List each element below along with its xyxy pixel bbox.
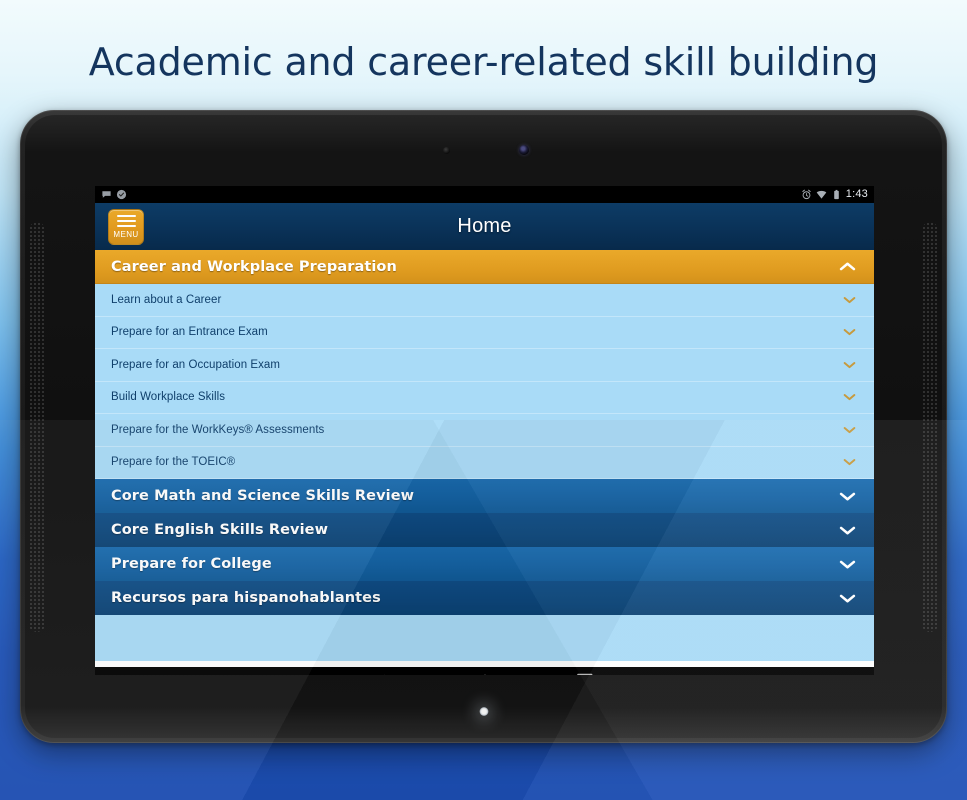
status-bar-notifications (101, 189, 127, 200)
accordion-section-header[interactable]: Core Math and Science Skills Review (95, 479, 874, 513)
status-bar-clock: 1:43 (846, 189, 868, 200)
home-icon (474, 673, 496, 675)
chevron-down-icon (839, 525, 856, 536)
front-camera-icon (519, 145, 529, 155)
accordion-sub-item-label: Learn about a Career (111, 294, 221, 306)
accordion-sub-item-label: Build Workplace Skills (111, 391, 225, 403)
alarm-clock-icon (801, 189, 812, 200)
status-bar-system: 1:43 (801, 189, 868, 200)
chevron-down-icon (839, 559, 856, 570)
chevron-down-icon (843, 296, 856, 304)
chevron-down-icon (843, 393, 856, 401)
message-bubble-icon (101, 189, 112, 200)
accordion-sub-item[interactable]: Prepare for an Entrance Exam (95, 317, 874, 350)
chevron-up-icon (839, 261, 856, 272)
nav-home-button[interactable] (472, 671, 498, 675)
check-circle-icon (116, 189, 127, 200)
nav-back-button[interactable] (374, 671, 400, 675)
menu-button-label: MENU (113, 231, 138, 239)
accordion-section-header[interactable]: Prepare for College (95, 547, 874, 581)
wifi-icon (816, 189, 827, 200)
accordion-section-title: Career and Workplace Preparation (111, 259, 397, 275)
accordion-section-title: Core English Skills Review (111, 522, 328, 538)
chevron-down-icon (843, 361, 856, 369)
accordion-sub-item-label: Prepare for the WorkKeys® Assessments (111, 424, 324, 436)
app-action-bar: MENU Home (95, 203, 874, 250)
promo-background: Academic and career-related skill buildi… (0, 0, 967, 800)
recents-icon (573, 673, 593, 676)
accordion-sub-item-label: Prepare for the TOEIC® (111, 456, 235, 468)
chevron-down-icon (839, 593, 856, 604)
accordion-section-title: Prepare for College (111, 556, 272, 572)
back-icon (377, 673, 397, 675)
accordion-section-title: Recursos para hispanohablantes (111, 590, 381, 606)
accordion-list: Career and Workplace PreparationLearn ab… (95, 250, 874, 661)
accordion-section-header[interactable]: Recursos para hispanohablantes (95, 581, 874, 615)
accordion-sub-item[interactable]: Prepare for an Occupation Exam (95, 349, 874, 382)
chevron-down-icon (839, 491, 856, 502)
accordion-section-header[interactable]: Core English Skills Review (95, 513, 874, 547)
accordion-sub-item-label: Prepare for an Occupation Exam (111, 359, 280, 371)
accordion-section-title: Core Math and Science Skills Review (111, 488, 414, 504)
chevron-down-icon (843, 458, 856, 466)
device-screen: 1:43 MENU Home Career and Workplace Prep… (95, 186, 874, 675)
ambient-light-sensor (443, 147, 450, 154)
android-nav-bar (95, 667, 874, 675)
accordion-sub-item[interactable]: Prepare for the WorkKeys® Assessments (95, 414, 874, 447)
accordion-sub-item[interactable]: Build Workplace Skills (95, 382, 874, 415)
nav-recents-button[interactable] (570, 671, 596, 675)
accordion-sub-item[interactable]: Prepare for the TOEIC® (95, 447, 874, 480)
chevron-down-icon (843, 426, 856, 434)
speaker-grille-left (29, 222, 45, 632)
speaker-grille-right (922, 222, 938, 632)
status-led-indicator (479, 707, 488, 716)
accordion-sub-item[interactable]: Learn about a Career (95, 284, 874, 317)
page-title: Home (95, 215, 874, 238)
battery-icon (831, 189, 842, 200)
android-status-bar: 1:43 (95, 186, 874, 203)
accordion-section-header[interactable]: Career and Workplace Preparation (95, 250, 874, 284)
chevron-down-icon (843, 328, 856, 336)
promo-headline: Academic and career-related skill buildi… (0, 40, 967, 84)
hamburger-icon (117, 215, 136, 227)
accordion-sub-item-label: Prepare for an Entrance Exam (111, 326, 268, 338)
tablet-device: 1:43 MENU Home Career and Workplace Prep… (20, 110, 947, 743)
menu-button[interactable]: MENU (108, 209, 144, 245)
